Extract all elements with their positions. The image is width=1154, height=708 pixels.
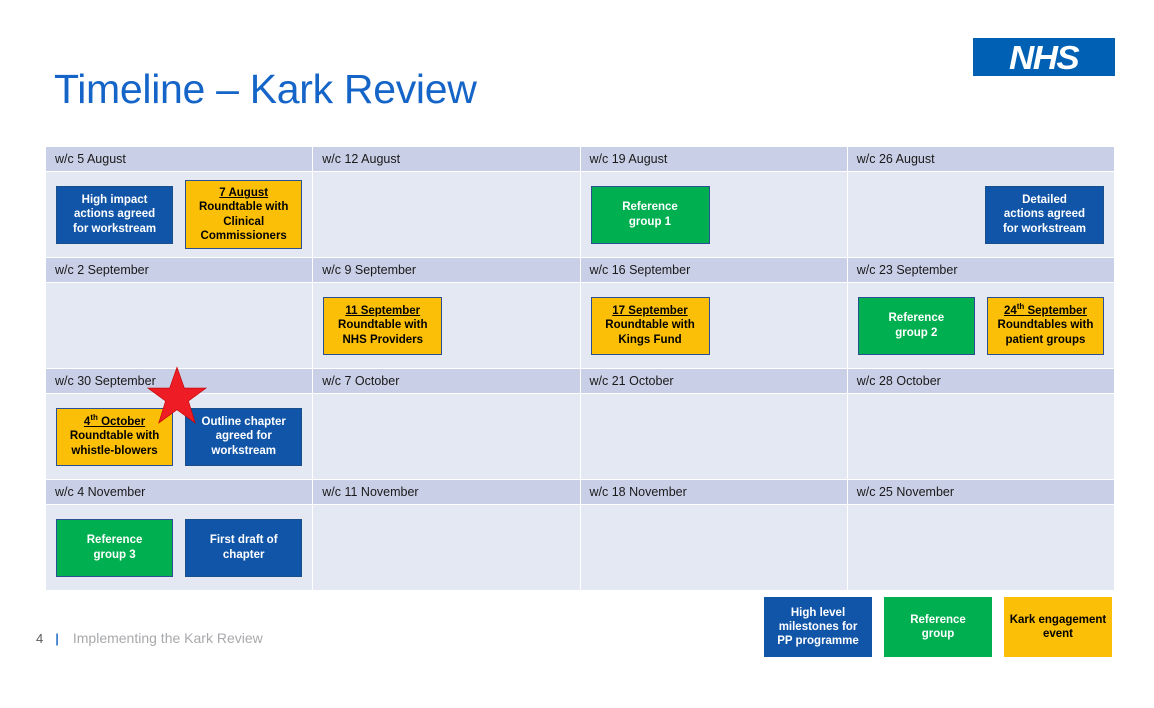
event-line: event xyxy=(1043,627,1073,641)
week-cell-content xyxy=(848,505,1114,590)
week-cell-content xyxy=(313,394,579,479)
milestone-box-blue[interactable]: Outline chapteragreed forworkstream xyxy=(185,408,302,466)
week-header: w/c 7 October xyxy=(313,369,580,394)
week-cell: 17 SeptemberRoundtable withKings Fund xyxy=(580,283,847,369)
timeline-header-row: w/c 2 Septemberw/c 9 Septemberw/c 16 Sep… xyxy=(46,258,1115,283)
timeline-content-row: 11 SeptemberRoundtable withNHS Providers… xyxy=(46,283,1115,369)
event-line: PP programme xyxy=(777,634,859,648)
week-header: w/c 25 November xyxy=(847,480,1114,505)
event-date: 24th September xyxy=(1004,304,1087,318)
week-cell-content xyxy=(581,394,847,479)
milestone-box-blue[interactable]: Detailedactions agreedfor workstream xyxy=(985,186,1104,244)
nhs-logo: NHS xyxy=(973,38,1115,76)
nhs-logo-text: NHS xyxy=(1009,41,1078,74)
timeline-content-row: Referencegroup 3First draft ofchapter xyxy=(46,505,1115,591)
page-title: Timeline – Kark Review xyxy=(54,66,477,113)
event-line: workstream xyxy=(211,444,276,458)
event-line: Commissioners xyxy=(201,229,287,243)
event-line: Kark engagement xyxy=(1010,613,1107,627)
week-cell: Referencegroup 3First draft ofchapter xyxy=(46,505,313,591)
week-header: w/c 23 September xyxy=(847,258,1114,283)
week-header: w/c 12 August xyxy=(313,147,580,172)
event-line: group 3 xyxy=(93,548,135,562)
week-cell-content: High impactactions agreedfor workstream7… xyxy=(46,172,312,257)
week-cell-content xyxy=(581,505,847,590)
event-line: Outline chapter xyxy=(202,415,286,429)
week-cell-content: 11 SeptemberRoundtable withNHS Providers xyxy=(313,283,579,368)
event-line: Reference xyxy=(87,533,143,547)
legend: High levelmilestones forPP programmeRefe… xyxy=(764,597,1112,657)
event-line: actions agreed xyxy=(1004,207,1085,221)
event-line: High level xyxy=(791,606,845,620)
event-line: Detailed xyxy=(1022,193,1067,207)
legend-item-blue[interactable]: High levelmilestones forPP programme xyxy=(764,597,872,657)
event-line: High impact xyxy=(82,193,148,207)
week-cell-content: 17 SeptemberRoundtable withKings Fund xyxy=(581,283,847,368)
event-line: Roundtable with xyxy=(338,318,427,332)
event-date: 17 September xyxy=(612,304,687,318)
week-cell xyxy=(313,505,580,591)
milestone-box-yellow[interactable]: 24th SeptemberRoundtables withpatient gr… xyxy=(987,297,1104,355)
week-cell-content: Detailedactions agreedfor workstream xyxy=(848,172,1114,257)
deck-name: Implementing the Kark Review xyxy=(73,630,263,646)
timeline-content-row: High impactactions agreedfor workstream7… xyxy=(46,172,1115,258)
week-cell xyxy=(580,394,847,480)
week-header: w/c 5 August xyxy=(46,147,313,172)
week-header: w/c 28 October xyxy=(847,369,1114,394)
event-date: 7 August xyxy=(219,186,268,200)
event-line: whistle-blowers xyxy=(71,444,157,458)
milestone-box-green[interactable]: Referencegroup 3 xyxy=(56,519,173,577)
event-line: for workstream xyxy=(73,222,156,236)
milestone-box-green[interactable]: Referencegroup 2 xyxy=(858,297,975,355)
week-header: w/c 16 September xyxy=(580,258,847,283)
week-cell xyxy=(313,394,580,480)
event-line: group xyxy=(922,627,955,641)
footer-separator: | xyxy=(55,631,59,646)
week-cell xyxy=(847,505,1114,591)
event-line: patient groups xyxy=(1006,333,1086,347)
event-line: agreed for xyxy=(216,429,272,443)
milestone-box-yellow[interactable]: 4th OctoberRoundtable withwhistle-blower… xyxy=(56,408,173,466)
week-cell-content: Referencegroup 1 xyxy=(581,172,847,257)
event-line: First draft of xyxy=(210,533,278,547)
week-cell xyxy=(847,394,1114,480)
week-cell: 11 SeptemberRoundtable withNHS Providers xyxy=(313,283,580,369)
week-header: w/c 9 September xyxy=(313,258,580,283)
timeline-header-row: w/c 5 Augustw/c 12 Augustw/c 19 Augustw/… xyxy=(46,147,1115,172)
event-line: group 1 xyxy=(629,215,671,229)
footer: 4 | Implementing the Kark Review xyxy=(36,630,263,646)
event-line: Roundtable with xyxy=(70,429,159,443)
event-line: Kings Fund xyxy=(618,333,681,347)
event-line: Roundtable with xyxy=(199,200,288,214)
week-header: w/c 11 November xyxy=(313,480,580,505)
week-cell-content xyxy=(46,283,312,368)
event-line: Reference xyxy=(910,613,966,627)
week-cell: Detailedactions agreedfor workstream xyxy=(847,172,1114,258)
milestone-box-blue[interactable]: First draft ofchapter xyxy=(185,519,302,577)
timeline-content-row: 4th OctoberRoundtable withwhistle-blower… xyxy=(46,394,1115,480)
event-line: Roundtables with xyxy=(998,318,1094,332)
milestone-box-yellow[interactable]: 11 SeptemberRoundtable withNHS Providers xyxy=(323,297,442,355)
milestone-box-blue[interactable]: High impactactions agreedfor workstream xyxy=(56,186,173,244)
week-cell: Referencegroup 1 xyxy=(580,172,847,258)
week-cell: 4th OctoberRoundtable withwhistle-blower… xyxy=(46,394,313,480)
event-line: group 2 xyxy=(895,326,937,340)
timeline-header-row: w/c 30 Septemberw/c 7 Octoberw/c 21 Octo… xyxy=(46,369,1115,394)
week-header: w/c 18 November xyxy=(580,480,847,505)
week-cell-content: Referencegroup 3First draft ofchapter xyxy=(46,505,312,590)
event-line: Reference xyxy=(622,200,678,214)
event-line: Reference xyxy=(889,311,945,325)
week-cell-content: 4th OctoberRoundtable withwhistle-blower… xyxy=(46,394,312,479)
legend-item-yellow[interactable]: Kark engagementevent xyxy=(1004,597,1112,657)
legend-item-green[interactable]: Referencegroup xyxy=(884,597,992,657)
event-date: 4th October xyxy=(84,415,145,429)
week-header: w/c 4 November xyxy=(46,480,313,505)
event-line: Roundtable with xyxy=(605,318,694,332)
week-header: w/c 19 August xyxy=(580,147,847,172)
week-header: w/c 2 September xyxy=(46,258,313,283)
page-number: 4 xyxy=(36,631,43,646)
week-cell xyxy=(46,283,313,369)
week-cell: High impactactions agreedfor workstream7… xyxy=(46,172,313,258)
week-header: w/c 26 August xyxy=(847,147,1114,172)
timeline-table: w/c 5 Augustw/c 12 Augustw/c 19 Augustw/… xyxy=(45,146,1115,591)
event-line: for workstream xyxy=(1003,222,1086,236)
slide: NHS Timeline – Kark Review w/c 5 Augustw… xyxy=(0,0,1154,708)
week-header: w/c 30 September xyxy=(46,369,313,394)
event-date: 11 September xyxy=(345,304,420,318)
event-line: chapter xyxy=(223,548,265,562)
week-cell-content: Referencegroup 224th SeptemberRoundtable… xyxy=(848,283,1114,368)
milestone-box-yellow[interactable]: 7 AugustRoundtable withClinicalCommissio… xyxy=(185,180,302,248)
week-cell xyxy=(580,505,847,591)
week-cell xyxy=(313,172,580,258)
week-cell-content xyxy=(313,172,579,257)
week-cell-content xyxy=(848,394,1114,479)
timeline-header-row: w/c 4 Novemberw/c 11 Novemberw/c 18 Nove… xyxy=(46,480,1115,505)
event-line: milestones for xyxy=(779,620,858,634)
event-line: Clinical xyxy=(223,215,264,229)
week-cell: Referencegroup 224th SeptemberRoundtable… xyxy=(847,283,1114,369)
milestone-box-green[interactable]: Referencegroup 1 xyxy=(591,186,710,244)
event-line: actions agreed xyxy=(74,207,155,221)
week-header: w/c 21 October xyxy=(580,369,847,394)
week-cell-content xyxy=(313,505,579,590)
milestone-box-yellow[interactable]: 17 SeptemberRoundtable withKings Fund xyxy=(591,297,710,355)
event-line: NHS Providers xyxy=(342,333,423,347)
